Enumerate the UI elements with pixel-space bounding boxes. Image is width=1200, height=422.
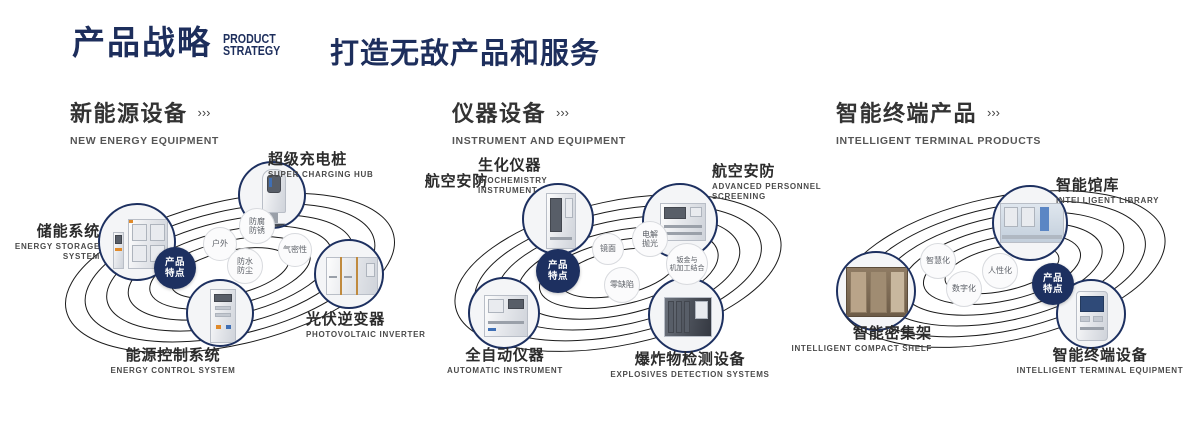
page-title-english: PRODUCT STRATEGY xyxy=(223,33,280,57)
node-explosives-detection-systems[interactable] xyxy=(648,277,724,353)
page-title: 产品战略 xyxy=(72,26,212,59)
feature-line2: 防尘 xyxy=(237,266,253,276)
feature-line1: 镜面 xyxy=(600,244,616,254)
feature-line1: 电解 xyxy=(642,230,658,240)
energy-control-system-image xyxy=(188,281,252,345)
feature-line1: 户外 xyxy=(212,239,228,249)
section-title-en: NEW ENERGY EQUIPMENT xyxy=(70,135,219,147)
cluster-instrument-and-equipment: 航空安防 生化仪器 BIOCHEMISTRY INSTRUMENT 航空安防 A… xyxy=(428,155,808,385)
feature-bubble: 人性化 xyxy=(982,253,1018,289)
node-intelligent-compact-shelf[interactable] xyxy=(836,251,916,331)
label-cn: 航空安防 xyxy=(392,173,488,190)
label-cn: 智能馆库 xyxy=(1056,177,1200,194)
chevron-right-icon: ››› xyxy=(556,106,569,119)
node-energy-control-system[interactable] xyxy=(186,279,254,347)
intelligent-compact-shelf-image xyxy=(838,253,914,329)
badge-product-features: 产品 特点 xyxy=(536,249,580,293)
feature-line1: 人性化 xyxy=(988,266,1012,276)
label-en: ENERGY STORAGE SYSTEM xyxy=(10,242,100,262)
badge-line2: 特点 xyxy=(165,268,185,279)
label-cn: 智能密集架 xyxy=(756,325,932,342)
label-cn: 智能终端设备 xyxy=(1008,347,1192,364)
feature-bubble: 电解 抛光 xyxy=(632,221,668,257)
label-cn: 储能系统 xyxy=(10,223,100,240)
automatic-instrument-image xyxy=(470,279,538,347)
cluster-new-energy-equipment: 储能系统 ENERGY STORAGE SYSTEM 超级充电桩 SUPER C… xyxy=(40,155,420,385)
section-heading-new-energy: 新能源设备 ››› NEW ENERGY EQUIPMENT xyxy=(70,96,219,147)
feature-line1: 零缺陷 xyxy=(610,280,634,290)
label-cn: 生化仪器 xyxy=(478,157,608,174)
label-intelligent-terminal-equipment: 智能终端设备 INTELLIGENT TERMINAL EQUIPMENT xyxy=(1008,347,1192,376)
badge-product-features: 产品 特点 xyxy=(154,247,196,289)
feature-line1: 钣金与 xyxy=(677,256,698,265)
feature-bubble: 镜面 xyxy=(592,233,624,265)
feature-bubble: 智慧化 xyxy=(920,243,956,279)
badge-product-features: 产品 特点 xyxy=(1032,263,1074,305)
product-strategy-infographic: 产品战略 PRODUCT STRATEGY 打造无敌产品和服务 新能源设备 ››… xyxy=(0,0,1200,422)
label-en: INTELLIGENT LIBRARY xyxy=(1056,196,1200,206)
section-heading-intelligent-terminal: 智能终端产品 ››› INTELLIGENT TERMINAL PRODUCTS xyxy=(836,96,1041,147)
explosives-detection-systems-image xyxy=(650,279,722,351)
label-en: INTELLIGENT TERMINAL EQUIPMENT xyxy=(1008,366,1192,376)
feature-bubble: 防腐 防锈 xyxy=(239,208,275,244)
feature-line1: 防水 xyxy=(237,257,253,267)
section-title-cn: 新能源设备 xyxy=(70,96,188,128)
feature-line1: 气密性 xyxy=(283,245,307,255)
node-automatic-instrument[interactable] xyxy=(468,277,540,349)
section-title-en: INTELLIGENT TERMINAL PRODUCTS xyxy=(836,135,1041,147)
badge-line2: 特点 xyxy=(1043,284,1063,295)
feature-line1: 智慧化 xyxy=(926,256,950,266)
label-intelligent-compact-shelf: 智能密集架 INTELLIGENT COMPACT SHELF xyxy=(756,325,932,354)
badge-line1: 产品 xyxy=(548,260,568,271)
feature-bubble: 零缺陷 xyxy=(604,267,640,303)
label-cn: 全自动仪器 xyxy=(420,347,590,364)
node-photovoltaic-inverter[interactable] xyxy=(314,239,384,309)
chevron-right-icon: ››› xyxy=(987,106,1000,119)
label-explosives-detection-systems: 爆炸物检测设备 EXPLOSIVES DETECTION SYSTEMS xyxy=(610,351,770,380)
label-cn: 能源控制系统 xyxy=(88,347,258,364)
section-title-en: INSTRUMENT AND EQUIPMENT xyxy=(452,135,626,147)
label-en: BIOCHEMISTRY INSTRUMENT xyxy=(478,176,608,196)
label-cn: 爆炸物检测设备 xyxy=(610,351,770,368)
label-aviation-security-left: 航空安防 xyxy=(392,173,488,190)
label-energy-control-system: 能源控制系统 ENERGY CONTROL SYSTEM xyxy=(88,347,258,376)
badge-line1: 产品 xyxy=(165,257,185,268)
feature-line2: 防锈 xyxy=(249,226,265,236)
feature-line2: 抛光 xyxy=(642,239,658,249)
badge-line1: 产品 xyxy=(1043,273,1063,284)
label-en: ENERGY CONTROL SYSTEM xyxy=(88,366,258,376)
page-header: 产品战略 PRODUCT STRATEGY xyxy=(72,26,293,59)
label-en: INTELLIGENT COMPACT SHELF xyxy=(756,344,932,354)
badge-line2: 特点 xyxy=(548,271,568,282)
cluster-intelligent-terminal-products: 智能馆库 INTELLIGENT LIBRARY 智能密集架 INTELLIGE… xyxy=(812,155,1192,385)
page-slogan: 打造无敌产品和服务 xyxy=(330,30,600,72)
section-heading-instrument: 仪器设备 ››› INSTRUMENT AND EQUIPMENT xyxy=(452,96,626,147)
label-en: EXPLOSIVES DETECTION SYSTEMS xyxy=(610,370,770,380)
feature-bubble: 钣金与 机加工结合 xyxy=(666,243,708,285)
feature-line1: 防腐 xyxy=(249,217,265,227)
label-biochemistry-instrument: 生化仪器 BIOCHEMISTRY INSTRUMENT xyxy=(478,157,608,196)
feature-bubble: 气密性 xyxy=(278,233,312,267)
photovoltaic-inverter-image xyxy=(316,241,382,307)
page-title-english-line2: STRATEGY xyxy=(223,45,280,57)
label-en: AUTOMATIC INSTRUMENT xyxy=(420,366,590,376)
label-intelligent-library: 智能馆库 INTELLIGENT LIBRARY xyxy=(1056,177,1200,206)
feature-bubble: 防水 防尘 xyxy=(227,248,263,284)
section-title-cn: 智能终端产品 xyxy=(836,96,977,128)
label-cn: 超级充电桩 xyxy=(268,151,418,168)
feature-line1: 数字化 xyxy=(952,284,976,294)
label-automatic-instrument: 全自动仪器 AUTOMATIC INSTRUMENT xyxy=(420,347,590,376)
section-title-cn: 仪器设备 xyxy=(452,96,546,128)
chevron-right-icon: ››› xyxy=(198,106,211,119)
label-energy-storage-system: 储能系统 ENERGY STORAGE SYSTEM xyxy=(10,223,100,262)
feature-line2: 机加工结合 xyxy=(670,264,705,273)
feature-bubble: 数字化 xyxy=(946,271,982,307)
